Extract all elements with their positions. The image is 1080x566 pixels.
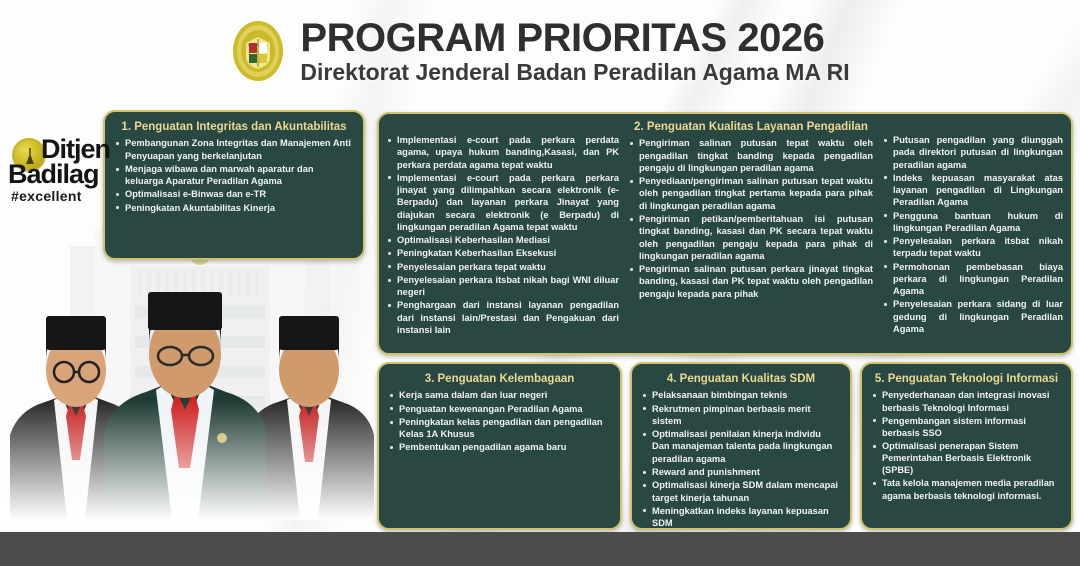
list-item: Penghargaan dari instansi layanan pengad…	[387, 299, 619, 336]
list-item: Pengembangan sistem informasi berbasis S…	[872, 415, 1061, 439]
priority-card-2-list-2: Putusan pengadilan yang diunggah pada di…	[883, 134, 1063, 335]
list-item: Penyelesaian perkara sidang di luar gedu…	[883, 298, 1063, 335]
list-item: Pengguna bantuan hukum di lingkungan Per…	[883, 210, 1063, 235]
priority-card-3-title: 3. Penguatan Kelembagaan	[389, 372, 610, 386]
priority-card-4-title: 4. Penguatan Kualitas SDM	[642, 372, 840, 386]
priority-card-1-continued-column: Implementasi e-court pada perkara perdat…	[387, 120, 619, 347]
list-item: Meningkatkan indeks layanan kepuasan SDM	[642, 505, 840, 530]
list-item: Putusan pengadilan yang diunggah pada di…	[883, 134, 1063, 171]
page-subtitle: Direktorat Jenderal Badan Peradilan Agam…	[300, 60, 849, 84]
list-item: Pengiriman salinan putusan tepat waktu o…	[629, 137, 873, 174]
priority-card-3: 3. Penguatan Kelembagaan Kerja sama dala…	[377, 362, 622, 530]
page-header: PROGRAM PRIORITAS 2026 Direktorat Jender…	[0, 10, 1080, 92]
list-item: Peningkatan Akuntabilitas Kinerja	[115, 202, 353, 214]
priority-card-5: 5. Penguatan Teknologi Informasi Penyede…	[860, 362, 1073, 530]
list-item: Optimalisasi e-Binwas dan e-TR	[115, 188, 353, 200]
priority-card-4: 4. Penguatan Kualitas SDM Pelaksanaan bi…	[630, 362, 852, 530]
list-item: Penyelesaian perkara tepat waktu	[387, 261, 619, 273]
list-item: Implementasi e-court pada perkara perkar…	[387, 172, 619, 233]
three-officials-photo	[0, 220, 380, 520]
priority-card-2: Implementasi e-court pada perkara perdat…	[377, 112, 1073, 355]
priority-card-1-title: 1. Penguatan Integritas dan Akuntabilita…	[115, 120, 353, 134]
list-item: Pengiriman petikan/pemberitahuan isi put…	[629, 213, 873, 262]
list-item: Pembentukan pengadilan agama baru	[389, 441, 610, 453]
list-item: Penyediaan/pengiriman salinan putusan te…	[629, 175, 873, 212]
badilag-logo-line2: Badilag	[8, 161, 99, 188]
priority-card-5-list: Penyederhanaan dan integrasi inovasi ber…	[872, 389, 1061, 501]
list-item: Penyelesaian perkara itsbat nikah bagi W…	[387, 274, 619, 299]
list-item: Pelaksanaan bimbingan teknis	[642, 389, 840, 401]
bottom-bar	[0, 532, 1080, 566]
priority-card-2-list-1: Pengiriman salinan putusan tepat waktu o…	[629, 137, 873, 299]
priority-card-2-column-1: 2. Penguatan Kualitas Layanan Pengadilan…	[629, 120, 873, 347]
list-item: Optimalisasi penilaian kinerja individu …	[642, 428, 840, 465]
list-item: Rekrutmen pimpinan berbasis merit sistem	[642, 403, 840, 428]
page-title: PROGRAM PRIORITAS 2026	[300, 18, 824, 59]
list-item: Optimalisasi Keberhasilan Mediasi	[387, 234, 619, 246]
badilag-logo: Ditjen Badilag #excellent	[8, 128, 114, 220]
priority-card-1: 1. Penguatan Integritas dan Akuntabilita…	[103, 110, 365, 260]
list-item: Pembangunan Zona Integritas dan Manajeme…	[115, 137, 353, 162]
mahkamah-agung-seal-icon	[230, 19, 286, 83]
priority-card-1-continued-list: Implementasi e-court pada perkara perdat…	[387, 134, 619, 336]
list-item: Indeks kepuasan masyarakat atas layanan …	[883, 172, 1063, 209]
list-item: Penguatan kewenangan Peradilan Agama	[389, 403, 610, 415]
list-item: Implementasi e-court pada perkara perdat…	[387, 134, 619, 171]
list-item: Penyelesaian perkara itsbat nikah terpad…	[883, 235, 1063, 260]
list-item: Pengiriman salinan putusan perkara jinay…	[629, 263, 873, 300]
list-item: Kerja sama dalam dan luar negeri	[389, 389, 610, 401]
priority-card-1-list: Pembangunan Zona Integritas dan Manajeme…	[115, 137, 353, 214]
priority-card-2-title: 2. Penguatan Kualitas Layanan Pengadilan	[629, 120, 873, 134]
list-item: Permohonan pembebasan biaya perkara di l…	[883, 261, 1063, 298]
list-item: Peningkatan kelas pengadilan dan pengadi…	[389, 416, 610, 441]
list-item: Reward and punishment	[642, 466, 840, 478]
priority-card-2-column-2: Putusan pengadilan yang diunggah pada di…	[883, 120, 1063, 347]
priority-card-4-list: Pelaksanaan bimbingan teknisRekrutmen pi…	[642, 389, 840, 542]
list-item: Optimalisasi kinerja SDM dalam mencapai …	[642, 479, 840, 504]
list-item: Peningkatan Keberhasilan Eksekusi	[387, 247, 619, 259]
list-item: Menjaga wibawa dan marwah aparatur dan k…	[115, 163, 353, 188]
priority-card-3-list: Kerja sama dalam dan luar negeriPenguata…	[389, 389, 610, 453]
list-item: Penyederhanaan dan integrasi inovasi ber…	[872, 389, 1061, 413]
list-item: Tata kelola manajemen media peradilan ag…	[872, 477, 1061, 501]
list-item: Optimalisasi penerapan Sistem Pemerintah…	[872, 440, 1061, 476]
badilag-logo-line3: #excellent	[11, 189, 82, 203]
priority-card-5-title: 5. Penguatan Teknologi Informasi	[872, 372, 1061, 386]
